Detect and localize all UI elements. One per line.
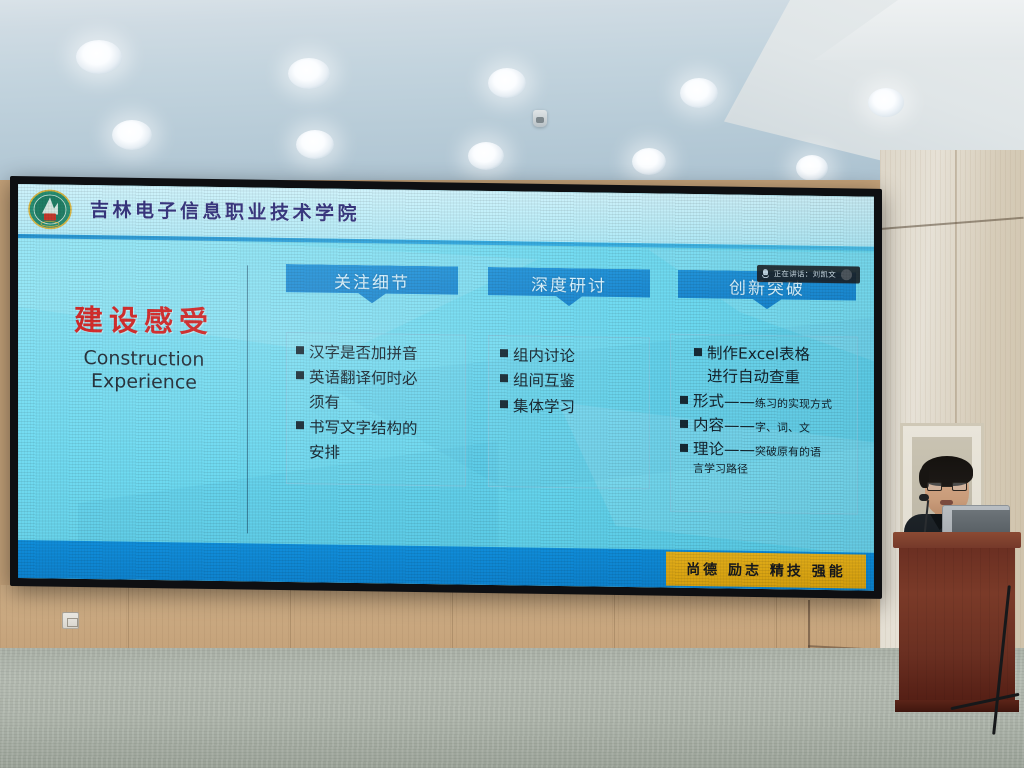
laptop-screen[interactable] (952, 510, 1010, 532)
laptop-lid (942, 505, 1010, 535)
bullet-text: 制作Excel表格 (707, 344, 810, 364)
slide-title-en-line2: Experience (52, 370, 236, 396)
list-item: 形式——练习的实现方式 (680, 389, 854, 415)
eyeglasses-icon (927, 482, 967, 491)
wall-cable (808, 600, 810, 650)
bullet-text: 内容—— (693, 416, 755, 435)
list-item: 书写文字结构的 安排 (296, 416, 462, 467)
list-item: 内容——字、词、文 (680, 414, 854, 440)
smoke-detector-icon (533, 110, 547, 127)
university-seal-logo (28, 189, 72, 230)
bullet-square-icon (680, 444, 688, 452)
bullet-square-icon (500, 375, 508, 383)
column-bullets-1: 汉字是否加拼音 英语翻译何时必 须有 书写文字结构的 安排 (296, 340, 462, 468)
bullet-square-icon (680, 395, 688, 403)
slide-title-en: Construction Experience (52, 347, 236, 396)
list-item: 汉字是否加拼音 (296, 340, 462, 367)
bullet-text: 理论—— (693, 440, 755, 459)
bullet-subtext: 练习的实现方式 (755, 396, 832, 410)
bullet-square-icon (296, 346, 304, 354)
ceiling-light (288, 58, 330, 89)
list-item: 集体学习 (500, 394, 648, 421)
ceiling-light (632, 148, 666, 175)
bullet-square-icon (296, 422, 304, 430)
bullet-text: 形式—— (693, 392, 755, 411)
bullet-text: 集体学习 (513, 397, 575, 416)
bullet-square-icon (500, 349, 508, 357)
ceiling-light (796, 155, 828, 181)
bullet-subtext: 字、词、文 (755, 421, 810, 435)
ceiling-light (76, 40, 122, 74)
bullet-square-icon (296, 372, 304, 380)
wall-power-outlet (62, 612, 79, 629)
bullet-text: 英语翻译何时必 (309, 369, 418, 389)
slide-title-cn: 建设感受 (52, 297, 236, 342)
speaking-label: 正在讲话：刘凯文 (774, 268, 836, 280)
list-item: 英语翻译何时必 须有 (296, 366, 462, 417)
ceiling-light (488, 68, 526, 98)
ceiling-light (296, 130, 334, 159)
bullet-text: 组内讨论 (513, 346, 575, 365)
vertical-divider (247, 265, 248, 533)
ceiling-light (112, 120, 152, 150)
bullet-square-icon (500, 400, 508, 408)
bullet-text-cont: 言学习路径 (693, 461, 854, 480)
ceiling-light (868, 88, 904, 117)
bullet-subtext: 突破原有的语 (755, 445, 821, 459)
ceiling-light (468, 142, 504, 170)
microphone-icon (762, 269, 769, 279)
institution-name: 吉林电子信息职业技术学院 (90, 195, 360, 226)
floor-carpet (0, 648, 1024, 768)
room-scene: 吉林电子信息职业技术学院 正在讲话：刘凯文 建设感受 Construction … (0, 0, 1024, 768)
ceiling-light (680, 78, 718, 108)
list-item: 理论——突破原有的语 言学习路径 (680, 438, 854, 480)
list-item: 组内讨论 (500, 343, 648, 370)
column-heading-label: 深度研讨 (531, 271, 607, 297)
column-bullets-3: 制作Excel表格 进行自动查重 形式——练习的实现方式 内容——字、词、文 (680, 342, 854, 481)
podium-top-surface (893, 532, 1021, 548)
bullet-text: 组间互鉴 (513, 372, 575, 391)
slide-title-en-line1: Construction (52, 347, 236, 373)
motto-badge: 尚德 励志 精技 强能 (666, 552, 866, 589)
motto-text: 尚德 励志 精技 强能 (686, 559, 846, 581)
bullet-text-cont: 安排 (309, 440, 462, 467)
bullet-text: 汉字是否加拼音 (309, 343, 418, 363)
speaker-avatar (841, 269, 852, 280)
slide-title-block: 建设感受 Construction Experience (52, 297, 236, 396)
list-item: 制作Excel表格 进行自动查重 (680, 342, 854, 391)
column-heading-label: 关注细节 (334, 268, 410, 294)
bullet-square-icon (694, 348, 702, 356)
bullet-square-icon (680, 420, 688, 428)
bullet-text-cont: 须有 (309, 390, 462, 417)
speaking-indicator-badge[interactable]: 正在讲话：刘凯文 (757, 265, 860, 284)
bullet-text: 书写文字结构的 (309, 419, 418, 439)
led-screen[interactable]: 吉林电子信息职业技术学院 正在讲话：刘凯文 建设感受 Construction … (18, 184, 874, 591)
bullet-text-cont: 进行自动查重 (707, 365, 854, 390)
column-bullets-2: 组内讨论 组间互鉴 集体学习 (500, 343, 648, 422)
presentation-slide: 吉林电子信息职业技术学院 正在讲话：刘凯文 建设感受 Construction … (18, 184, 874, 591)
list-item: 组间互鉴 (500, 369, 648, 396)
